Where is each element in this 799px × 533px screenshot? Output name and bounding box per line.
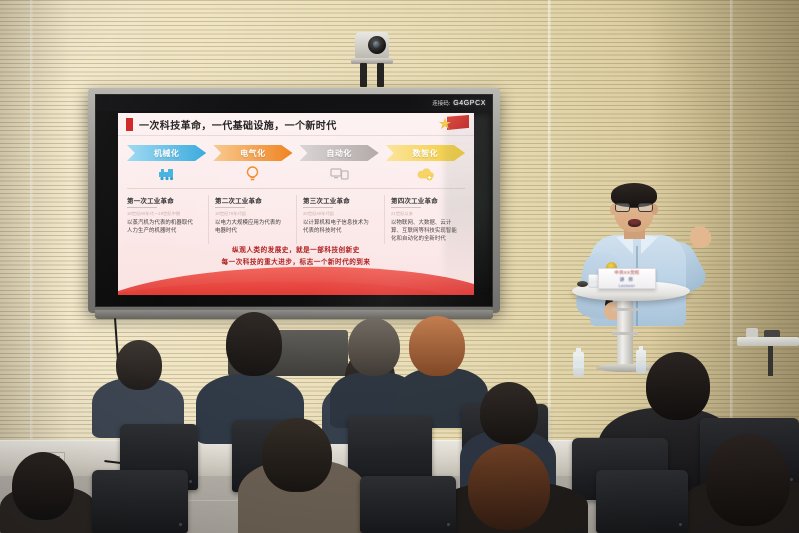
stage-arrow-4: 数智化	[386, 145, 465, 161]
wall-display[interactable]: 连接码: G4GPCX 一次科技革命，一代基础设施，一个新时代 机械化	[88, 88, 500, 313]
stage-description-1: 第一次工业革命 18世纪60年代—19世纪中期 以蒸汽机为代表的机器取代人力生产…	[127, 195, 201, 244]
stage-arrow-label: 数智化	[413, 148, 439, 159]
camera-bracket-arm	[360, 63, 367, 87]
stage-body: 以蒸汽机为代表的机器取代人力生产的机器时代	[127, 219, 197, 235]
footer-line-2: 每一次科技的重大进步，标志一个新时代的到来	[118, 257, 474, 269]
stage-arrow-3: 自动化	[300, 145, 379, 161]
title-red-marker	[126, 118, 133, 131]
stage-arrow-1: 机械化	[127, 145, 206, 161]
connection-code-label: 连接码:	[432, 99, 450, 107]
podium-stem	[617, 296, 633, 368]
audience-head	[262, 418, 332, 492]
cloud-icon	[386, 165, 465, 183]
wall-shading-left	[0, 0, 70, 455]
camera-mount-plate	[351, 58, 393, 64]
display-screen[interactable]: 连接码: G4GPCX 一次科技革命，一代基础设施，一个新时代 机械化	[95, 94, 493, 307]
presentation-room-photo: 连接码: G4GPCX 一次科技革命，一代基础设施，一个新时代 机械化	[0, 0, 799, 533]
audience-head	[348, 318, 400, 376]
stage-subtitle: 18世纪60年代—19世纪中期	[127, 211, 197, 217]
slide-header: 一次科技革命，一代基础设施，一个新时代	[118, 113, 474, 136]
stage-arrow-row: 机械化 电气化 自动化 数智化	[127, 145, 465, 161]
camera-bracket-arm	[377, 63, 384, 87]
camera-body	[355, 32, 389, 59]
ceiling-ptz-camera	[349, 32, 395, 90]
stage-description-3: 第三次工业革命 20世纪40年代起 以计算机和电子信息技术为代表的科技时代	[296, 195, 377, 244]
stage-description-2: 第二次工业革命 19世纪70年代起 以电力大规模应用为代表的电器时代	[208, 195, 289, 244]
stage-heading: 第二次工业革命	[215, 195, 285, 205]
water-bottle	[636, 350, 646, 374]
presentation-slide: 一次科技革命，一代基础设施，一个新时代 机械化 电气化 自动化	[118, 113, 474, 295]
side-table-leg	[768, 346, 773, 376]
slide-footer: 纵观人类的发展史，就是一部科技创新史 每一次科技的重大进步，标志一个新时代的到来	[118, 243, 474, 295]
stage-arrow-label: 电气化	[240, 148, 266, 159]
display-status-bar: 连接码: G4GPCX	[96, 95, 492, 111]
footer-line-1: 纵观人类的发展史，就是一部科技创新史	[118, 245, 474, 257]
audience-head	[409, 316, 465, 376]
audience-head	[468, 444, 550, 530]
stage-icon-row	[127, 165, 465, 189]
slide-footer-text: 纵观人类的发展史，就是一部科技创新史 每一次科技的重大进步，标志一个新时代的到来	[118, 245, 474, 269]
audience-head	[12, 452, 74, 520]
stage-subtitle: 21世纪以来	[391, 211, 461, 217]
name-card-line-3: Lecturer	[619, 284, 635, 288]
podium-object	[577, 281, 588, 287]
audience-head	[646, 352, 710, 420]
lightbulb-icon	[213, 165, 292, 183]
audience-head	[480, 382, 538, 444]
stage-heading: 第三次工业革命	[303, 195, 373, 205]
slide-title: 一次科技革命，一代基础设施，一个新时代	[139, 117, 337, 132]
side-table	[737, 337, 799, 346]
water-bottle	[573, 352, 584, 377]
stage-heading: 第一次工业革命	[127, 195, 197, 205]
audience-head	[706, 434, 790, 526]
steam-train-icon	[127, 165, 206, 183]
presenter-name-card: 中共XX党校 讲 师 Lecturer	[598, 268, 656, 289]
stage-description-4: 第四次工业革命 21世纪以来 以物联网、大数据、云计算、互联网等科技实现智能化和…	[384, 195, 465, 244]
stage-arrow-label: 自动化	[326, 148, 352, 159]
computer-icon	[300, 165, 379, 183]
name-card-line-2: 讲 师	[620, 277, 635, 283]
stage-subtitle: 20世纪40年代起	[303, 211, 373, 217]
name-card-line-1: 中共XX党校	[614, 270, 639, 276]
stage-arrow-label: 机械化	[154, 148, 180, 159]
camera-lens-icon	[368, 36, 386, 54]
lecture-hall-seat[interactable]	[596, 470, 688, 533]
wall-seam	[548, 0, 551, 455]
lecture-hall-seat[interactable]	[92, 470, 188, 533]
lecture-hall-seat[interactable]	[360, 476, 456, 533]
stage-body: 以电力大规模应用为代表的电器时代	[215, 219, 285, 235]
presenter-mouth	[628, 219, 641, 227]
stage-heading: 第四次工业革命	[391, 195, 461, 205]
connection-code-value: G4GPCX	[453, 100, 486, 107]
audience-head	[116, 340, 162, 390]
stage-description-row: 第一次工业革命 18世纪60年代—19世纪中期 以蒸汽机为代表的机器取代人力生产…	[127, 195, 465, 244]
glasses-icon	[615, 203, 653, 212]
presenter	[586, 186, 706, 326]
audience-head	[226, 312, 282, 376]
stage-subtitle: 19世纪70年代起	[215, 211, 285, 217]
stage-body: 以物联网、大数据、云计算、互联网等科技实现智能化和自动化的全新时代	[391, 219, 461, 243]
party-flag-icon	[439, 115, 469, 132]
stage-arrow-2: 电气化	[213, 145, 292, 161]
stage-body: 以计算机和电子信息技术为代表的科技时代	[303, 219, 373, 235]
